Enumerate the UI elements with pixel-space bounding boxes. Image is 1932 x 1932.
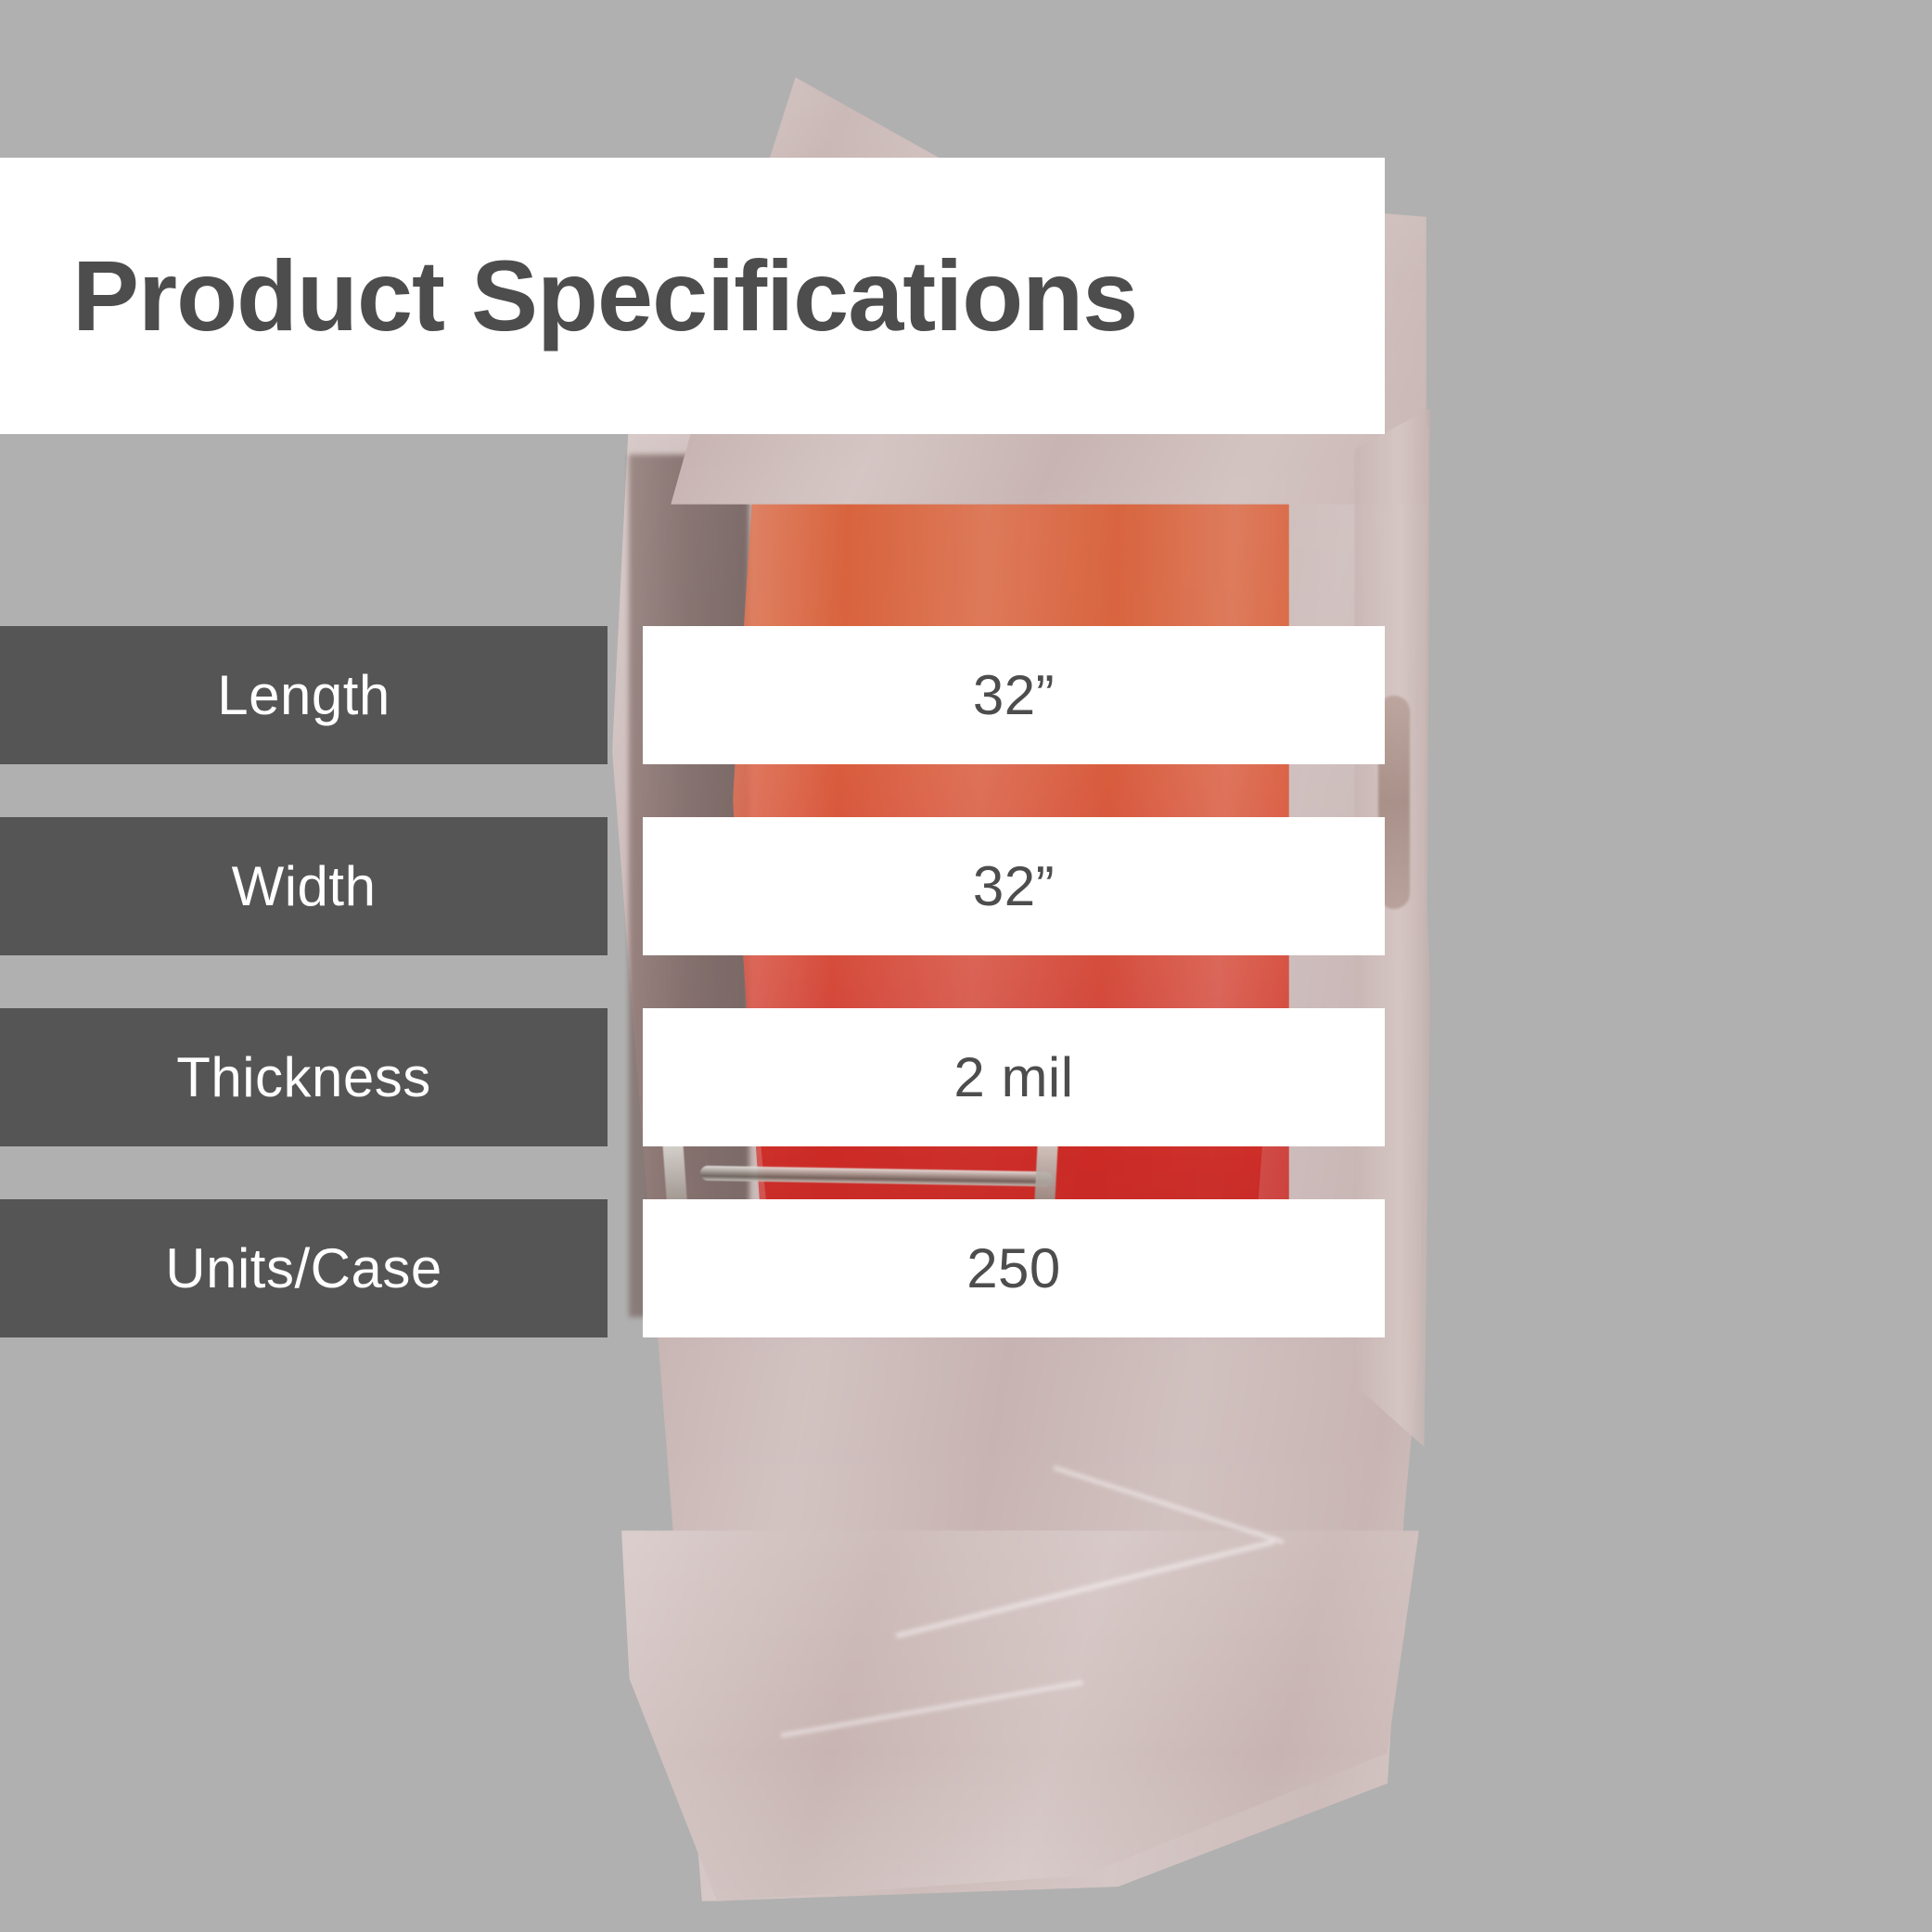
spec-value-thickness: 2 mil: [643, 1008, 1385, 1146]
spec-label-thickness: Thickness: [0, 1008, 608, 1146]
spec-label-units-per-case: Units/Case: [0, 1199, 608, 1337]
spec-value-length: 32”: [643, 626, 1385, 764]
spec-row-thickness: Thickness 2 mil: [0, 1008, 1385, 1146]
spec-row-units-per-case: Units/Case 250: [0, 1199, 1385, 1337]
spec-label-width: Width: [0, 817, 608, 955]
spec-row-length: Length 32”: [0, 626, 1385, 764]
spec-value-width: 32”: [643, 817, 1385, 955]
spec-label-length: Length: [0, 626, 608, 764]
title-panel: Product Specifications: [0, 158, 1385, 434]
product-specifications-card: Product Specifications Length 32” Width …: [0, 0, 1932, 1932]
poly-bag-bottom-fold: [621, 1530, 1419, 1901]
spec-value-units-per-case: 250: [643, 1199, 1385, 1337]
page-title: Product Specifications: [72, 246, 1137, 346]
spec-row-width: Width 32”: [0, 817, 1385, 955]
